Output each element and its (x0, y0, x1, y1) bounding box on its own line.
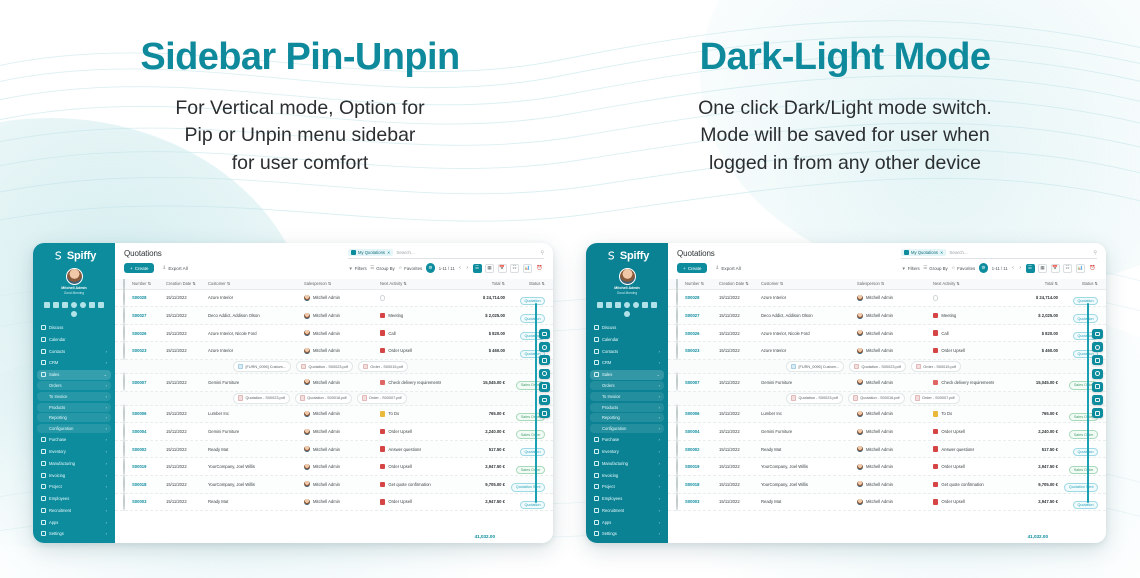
purchase-icon (41, 437, 46, 442)
chevron-right-icon[interactable]: › (106, 449, 107, 454)
attachment-chip[interactable]: Quotation - S00016.pdf (295, 393, 352, 404)
attachment-chip[interactable]: Quotation - S00016.pdf (848, 393, 905, 404)
theme-toggle-icon[interactable] (624, 311, 630, 317)
column-header-salesperson[interactable]: Salesperson ⇅ (857, 281, 933, 286)
promo-banner: Sidebar Pin-Unpin For Vertical mode, Opt… (0, 0, 1140, 578)
column-header-status[interactable]: Status ⇅ (505, 281, 545, 286)
group-icon: ☰ (370, 265, 374, 271)
chevron-right-icon[interactable]: › (659, 394, 660, 399)
chevron-right-icon[interactable]: › (659, 360, 660, 365)
search-icon[interactable]: ⚲ (540, 250, 544, 256)
sidebar-item-calendar[interactable]: Calendar (37, 334, 111, 344)
cell-customer: Azure Interior (761, 348, 857, 353)
pager-prev-button[interactable]: ‹ (458, 265, 462, 271)
chevron-right-icon[interactable]: › (659, 496, 660, 501)
home-icon[interactable] (606, 302, 612, 308)
table-row[interactable]: S0001815/11/2022YourCompany, Joel Willis… (115, 476, 553, 494)
table-row[interactable]: S0000615/11/2022Lumber IncMitchell Admin… (668, 406, 1106, 424)
action-toolbar: + Create ⇩ Export All ▼ Filters ☰ Group … (115, 262, 553, 279)
lock-icon[interactable] (98, 302, 104, 308)
attachment-chip[interactable]: Quotation - S00023.pdf (296, 361, 353, 372)
table-row[interactable]: S0002815/11/2022Azure InteriorMitchell A… (115, 290, 553, 308)
export-all-button[interactable]: ⇩ Export All (158, 263, 191, 274)
table-row[interactable]: S0000715/11/2022Gemini FurnitureMitchell… (115, 374, 553, 392)
row-checkbox[interactable] (123, 475, 132, 493)
grid-rail-icon[interactable] (1092, 355, 1103, 365)
pager-next-button[interactable]: › (1018, 265, 1022, 271)
sidebar-item-apps[interactable]: Apps› (37, 517, 111, 527)
filters-button[interactable]: ▼ Filters (901, 266, 919, 271)
sidebar-item-discuss[interactable]: Discuss (590, 323, 664, 333)
cell-number[interactable]: S00027 (132, 313, 166, 318)
kanban-view-icon[interactable]: ▦ (1038, 264, 1047, 273)
cell-next-activity: Order Upsell (933, 499, 1008, 504)
chevron-right-icon[interactable]: › (106, 484, 107, 489)
table-row[interactable]: S0000215/11/2022Ready MatMitchell AdminA… (668, 441, 1106, 459)
sidebar-item-settings[interactable]: Settings› (590, 529, 664, 539)
attachment-chips: [FURN_0096] Custom...Quotation - S00023.… (123, 361, 408, 372)
create-button[interactable]: + Create (677, 263, 707, 273)
table-row[interactable]: S0000315/11/2022Ready MatMitchell AdminO… (115, 494, 553, 512)
floating-action-rail (539, 329, 550, 418)
attachment-chip[interactable]: Order - S00015.pdf (358, 361, 408, 372)
cell-salesperson: Mitchell Admin (857, 295, 933, 301)
sidebar-item-products[interactable]: Products› (37, 403, 111, 412)
cell-number[interactable]: S00002 (685, 447, 719, 452)
chevron-right-icon[interactable]: › (106, 383, 107, 388)
column-header-number[interactable]: Number ⇅ (132, 281, 166, 286)
column-header-creation-date[interactable]: Creation Date ⇅ (719, 281, 761, 286)
table-row[interactable]: S0002315/11/2022Azure InteriorMitchell A… (668, 342, 1106, 360)
avatar (857, 499, 863, 505)
settings-rail-icon[interactable] (1092, 329, 1103, 339)
cell-number[interactable]: S00018 (132, 482, 166, 487)
sidebar-item-invoicing[interactable]: Invoicing› (37, 470, 111, 480)
cell-number[interactable]: S00028 (685, 295, 719, 300)
filters-label: Filters (908, 266, 920, 271)
cell-creation-date: 15/11/2022 (166, 348, 208, 353)
clock-rail-icon[interactable] (1092, 342, 1103, 352)
graph-view-icon[interactable]: 📊 (523, 264, 532, 273)
tag-icon[interactable] (642, 302, 648, 308)
cell-customer: Ready Mat (208, 447, 304, 452)
column-header-total[interactable]: Total ⇅ (1008, 281, 1058, 286)
pivot-view-icon[interactable]: ☷ (510, 264, 519, 273)
chevron-right-icon[interactable]: › (659, 461, 660, 466)
cell-number[interactable]: S00028 (132, 295, 166, 300)
settings-circle-button[interactable]: ⚙ (979, 263, 989, 273)
status-badge: Quotation (520, 448, 545, 456)
close-icon[interactable]: ✕ (940, 250, 943, 255)
chevron-right-icon[interactable]: › (659, 484, 660, 489)
chevron-right-icon[interactable]: › (106, 360, 107, 365)
column-header-customer[interactable]: Customer ⇅ (208, 281, 304, 286)
avatar (857, 481, 863, 487)
search-facet[interactable]: My Quotations ✕ (901, 249, 946, 256)
row-checkbox[interactable] (123, 307, 132, 325)
mail-rail-icon[interactable] (1092, 395, 1103, 405)
link2-icon[interactable] (633, 302, 639, 308)
attachment-chip[interactable]: Order - S00015.pdf (911, 361, 961, 372)
lock-icon[interactable] (651, 302, 657, 308)
cell-number[interactable]: S00018 (685, 482, 719, 487)
chevron-right-icon[interactable]: › (106, 415, 107, 420)
favorites-button[interactable]: ☆ Favorites (951, 265, 975, 271)
user-profile[interactable]: Mitchell Admin Good Morning (37, 268, 111, 295)
cell-customer: Deco Addict, Addison Olson (208, 313, 304, 318)
cell-number[interactable]: S00023 (132, 348, 166, 353)
table-row[interactable]: S0002715/11/2022Deco Addict, Addison Ols… (668, 307, 1106, 325)
column-header-status[interactable]: Status ⇅ (1058, 281, 1098, 286)
row-checkbox[interactable] (676, 373, 685, 391)
calendar-icon[interactable] (62, 302, 68, 308)
file-icon (791, 395, 796, 401)
graph-view-icon[interactable]: 📊 (1076, 264, 1085, 273)
attachment-chip[interactable]: Order - S00007.pdf (910, 393, 960, 404)
sidebar-item-products[interactable]: Products› (590, 403, 664, 412)
chevron-right-icon[interactable]: › (659, 426, 660, 431)
table-footer: 41,032.00 (115, 531, 553, 543)
list-view-icon[interactable]: ☰ (1026, 264, 1035, 273)
chevron-right-icon[interactable]: › (659, 531, 660, 536)
sidebar-item-invoicing[interactable]: Invoicing› (590, 470, 664, 480)
column-header-creation-date[interactable]: Creation Date ⇅ (166, 281, 208, 286)
chevron-right-icon[interactable]: › (106, 496, 107, 501)
column-header-customer[interactable]: Customer ⇅ (761, 281, 857, 286)
facet-label: My Quotations (358, 250, 385, 255)
chevron-right-icon[interactable]: › (106, 349, 107, 354)
file-icon (238, 395, 243, 401)
table-row[interactable]: S0002315/11/2022Azure InteriorMitchell A… (115, 342, 553, 360)
cell-number[interactable]: S00006 (132, 411, 166, 416)
sidebar-item-recruitment[interactable]: Recruitment› (590, 505, 664, 515)
row-checkbox[interactable] (123, 324, 132, 342)
chevron-right-icon[interactable]: › (659, 349, 660, 354)
cell-salesperson: Mitchell Admin (304, 481, 380, 487)
sidebar-item-sales[interactable]: Sales⌄ (37, 370, 111, 380)
sidebar-item-reporting[interactable]: Reporting› (590, 413, 664, 422)
cell-salesperson: Mitchell Admin (304, 379, 380, 385)
row-checkbox[interactable] (676, 440, 685, 458)
cell-number[interactable]: S00026 (132, 331, 166, 336)
sidebar-item-configuration[interactable]: Configuration› (37, 424, 111, 433)
cell-number[interactable]: S00019 (685, 464, 719, 469)
sidebar-item-manufacturing[interactable]: Manufacturing› (590, 458, 664, 468)
brand-name: Spiffy (620, 250, 649, 262)
row-checkbox[interactable] (123, 289, 132, 307)
phone-icon[interactable] (44, 302, 50, 308)
calendar-view-icon[interactable]: 📅 (498, 264, 507, 273)
attachment-chip[interactable]: Quotation - S00023.pdf (233, 393, 290, 404)
group-by-button[interactable]: ☰ Group By (923, 265, 947, 271)
favorites-button[interactable]: ☆ Favorites (398, 265, 422, 271)
table-row[interactable]: S0000315/11/2022Ready MatMitchell AdminO… (668, 494, 1106, 512)
vertical-scrollbar[interactable] (535, 303, 537, 503)
group-by-button[interactable]: ☰ Group By (370, 265, 394, 271)
activity-view-icon[interactable]: ⏰ (535, 264, 544, 273)
sidebar-item-employees[interactable]: Employees› (590, 494, 664, 504)
sidebar-item-discuss[interactable]: Discuss (37, 323, 111, 333)
table-row[interactable]: S0001815/11/2022YourCompany, Joel Willis… (668, 476, 1106, 494)
cell-creation-date: 15/11/2022 (719, 464, 761, 469)
table-row[interactable]: S0000215/11/2022Ready MatMitchell AdminA… (115, 441, 553, 459)
cell-salesperson: Mitchell Admin (304, 446, 380, 452)
cell-creation-date: 15/11/2022 (719, 313, 761, 318)
link-icon[interactable] (71, 302, 77, 308)
app-screenshot-light: Spiffy Mitchell Admin Good Morning Discu… (33, 243, 553, 543)
avatar (857, 330, 863, 336)
column-header-salesperson[interactable]: Salesperson ⇅ (304, 281, 380, 286)
cell-number[interactable]: S00003 (132, 499, 166, 504)
sidebar-item-configuration[interactable]: Configuration› (590, 424, 664, 433)
cell-number[interactable]: S00003 (685, 499, 719, 504)
cell-number[interactable]: S00007 (685, 380, 719, 385)
sidebar-item-label: Purchase (49, 437, 103, 442)
row-checkbox[interactable] (676, 342, 685, 360)
sidebar-item-contacts[interactable]: Contacts› (37, 346, 111, 356)
cell-number[interactable]: S00026 (685, 331, 719, 336)
column-header-next-activity[interactable]: Next Activity ⇅ (933, 281, 1008, 286)
sidebar-item-orders[interactable]: Orders› (37, 381, 111, 390)
cell-total: $ 820.00 (455, 331, 505, 336)
top-control-bar: Quotations My Quotations ✕ Search... ⚲ (115, 243, 553, 262)
row-checkbox[interactable] (676, 475, 685, 493)
attachment-label: Quotation - S00016.pdf (860, 396, 899, 400)
search-input[interactable]: Search... (396, 250, 414, 255)
mail-rail-icon[interactable] (539, 395, 550, 405)
action-toolbar: + Create ⇩ Export All ▼ Filters ☰ Group … (668, 262, 1106, 279)
calendar-icon[interactable] (615, 302, 621, 308)
pager-next-button[interactable]: › (465, 265, 469, 271)
table-row[interactable]: S0000715/11/2022Gemini FurnitureMitchell… (668, 374, 1106, 392)
sidebar-item-orders[interactable]: Orders› (590, 381, 664, 390)
cell-creation-date: 15/11/2022 (166, 429, 208, 434)
sidebar-item-label: Project (602, 484, 656, 489)
brand-logo[interactable]: Spiffy (37, 250, 111, 262)
table-row[interactable]: S0000615/11/2022Lumber IncMitchell Admin… (115, 406, 553, 424)
chevron-down-icon[interactable]: ⌄ (657, 372, 660, 377)
home-icon[interactable] (53, 302, 59, 308)
attachment-chip[interactable]: [FURN_0096] Custom... (786, 361, 844, 372)
sidebar-item-sales[interactable]: Sales⌄ (590, 370, 664, 380)
brand-logo[interactable]: Spiffy (590, 250, 664, 262)
sidebar-item-calendar[interactable]: Calendar (590, 334, 664, 344)
chevron-right-icon[interactable]: › (106, 473, 107, 478)
file-icon (791, 364, 796, 370)
calendar-view-icon[interactable]: 📅 (1051, 264, 1060, 273)
chevron-right-icon[interactable]: › (106, 508, 107, 513)
row-checkbox[interactable] (676, 405, 685, 423)
table-row[interactable]: S0000415/11/2022Gemini FurnitureMitchell… (668, 423, 1106, 441)
search-facet[interactable]: My Quotations ✕ (348, 249, 393, 256)
export-all-button[interactable]: ⇩ Export All (711, 263, 744, 274)
kanban-view-icon[interactable]: ▦ (485, 264, 494, 273)
attachment-chip[interactable]: Order - S00007.pdf (357, 393, 407, 404)
create-button[interactable]: + Create (124, 263, 154, 273)
table-row[interactable]: S0002615/11/2022Azure Interior, Nicole F… (668, 325, 1106, 343)
file-icon (853, 395, 858, 401)
chevron-right-icon[interactable]: › (106, 426, 107, 431)
sidebar-item-project[interactable]: Project› (590, 482, 664, 492)
user-profile[interactable]: Mitchell Admin Good Morning (590, 268, 664, 295)
chevron-right-icon[interactable]: › (659, 415, 660, 420)
cell-number[interactable]: S00006 (685, 411, 719, 416)
search-bar[interactable]: My Quotations ✕ Search... ⚲ (901, 249, 1097, 259)
pin-icon[interactable] (71, 311, 77, 317)
sidebar-item-recruitment[interactable]: Recruitment› (37, 505, 111, 515)
card-rail-icon[interactable] (539, 408, 550, 418)
sidebar-item-label: Apps (49, 520, 103, 525)
phone-icon[interactable] (597, 302, 603, 308)
clock-rail-icon[interactable] (539, 342, 550, 352)
avatar (304, 295, 310, 301)
sidebar-menu: DiscussCalendarContacts›CRM›Sales⌄Orders… (37, 322, 111, 540)
cell-salesperson: Mitchell Admin (857, 330, 933, 336)
vertical-scrollbar[interactable] (1087, 303, 1089, 503)
chevron-right-icon[interactable]: › (659, 383, 660, 388)
sidebar-item-inventory[interactable]: Inventory› (590, 447, 664, 457)
sidebar-item-crm[interactable]: CRM› (37, 358, 111, 368)
row-checkbox[interactable] (123, 373, 132, 391)
link2-icon[interactable] (80, 302, 86, 308)
sidebar-item-project[interactable]: Project› (37, 482, 111, 492)
sidebar-item-purchase[interactable]: Purchase› (590, 435, 664, 445)
cell-number[interactable]: S00023 (685, 348, 719, 353)
row-checkbox[interactable] (676, 493, 685, 511)
card-rail-icon[interactable] (1092, 408, 1103, 418)
column-header-next-activity[interactable]: Next Activity ⇅ (380, 281, 455, 286)
cell-number[interactable]: S00004 (132, 429, 166, 434)
pager-prev-button[interactable]: ‹ (1011, 265, 1015, 271)
chevron-right-icon[interactable]: › (659, 405, 660, 410)
row-checkbox[interactable] (676, 307, 685, 325)
sidebar-item-to-invoice[interactable]: To Invoice› (37, 392, 111, 401)
list-view-icon[interactable]: ☰ (473, 264, 482, 273)
chevron-right-icon[interactable]: › (106, 461, 107, 466)
sidebar-item-reporting[interactable]: Reporting› (37, 413, 111, 422)
row-checkbox[interactable] (123, 405, 132, 423)
cell-number[interactable]: S00004 (685, 429, 719, 434)
row-checkbox[interactable] (676, 324, 685, 342)
column-header-total[interactable]: Total ⇅ (455, 281, 505, 286)
attachment-label: [FURN_0096] Custom... (799, 365, 840, 369)
table-footer: 41,032.00 (668, 531, 1106, 543)
chevron-down-icon[interactable]: ⌄ (104, 372, 107, 377)
chevron-right-icon[interactable]: › (659, 473, 660, 478)
sidebar-item-contacts[interactable]: Contacts› (590, 346, 664, 356)
row-checkbox[interactable] (123, 342, 132, 360)
pivot-view-icon[interactable]: ☷ (1063, 264, 1072, 273)
print-rail-icon[interactable] (539, 369, 550, 379)
row-checkbox[interactable] (676, 458, 685, 476)
cell-next-activity: Answer questions (933, 446, 1008, 451)
sidebar-item-label: Purchase (602, 437, 656, 442)
search-bar[interactable]: My Quotations ✕ Search... ⚲ (348, 249, 544, 259)
sidebar-item-to-invoice[interactable]: To Invoice› (590, 392, 664, 401)
sidebar-item-purchase[interactable]: Purchase› (37, 435, 111, 445)
table-row[interactable]: S0002715/11/2022Deco Addict, Addison Ols… (115, 307, 553, 325)
row-checkbox[interactable] (676, 423, 685, 441)
search-input[interactable]: Search... (949, 250, 967, 255)
cell-total: 2,947.50 € (1008, 464, 1058, 469)
row-checkbox[interactable] (123, 423, 132, 441)
cell-salesperson: Mitchell Admin (857, 379, 933, 385)
row-checkbox[interactable] (123, 493, 132, 511)
chart-rail-icon[interactable] (539, 382, 550, 392)
chevron-right-icon[interactable]: › (106, 520, 107, 525)
table-row[interactable]: S0002615/11/2022Azure Interior, Nicole F… (115, 325, 553, 343)
sidebar-item-inventory[interactable]: Inventory› (37, 447, 111, 457)
chevron-right-icon[interactable]: › (106, 405, 107, 410)
attachment-label: Order - S00007.pdf (369, 396, 402, 400)
sidebar-item-apps[interactable]: Apps› (590, 517, 664, 527)
print-rail-icon[interactable] (1092, 369, 1103, 379)
breadcrumb[interactable]: Quotations (677, 249, 715, 258)
breadcrumb[interactable]: Quotations (124, 249, 162, 258)
chevron-right-icon[interactable]: › (659, 449, 660, 454)
link-icon[interactable] (624, 302, 630, 308)
cell-number[interactable]: S00027 (685, 313, 719, 318)
attachment-chip[interactable]: Quotation - S00023.pdf (849, 361, 906, 372)
settings-circle-button[interactable]: ⚙ (426, 263, 436, 273)
cell-number[interactable]: S00002 (132, 447, 166, 452)
sidebar-item-label: CRM (602, 360, 656, 365)
chevron-right-icon[interactable]: › (106, 437, 107, 442)
inventory-icon (594, 449, 599, 454)
search-icon[interactable]: ⚲ (1093, 250, 1097, 256)
activity-view-icon[interactable]: ⏰ (1088, 264, 1097, 273)
cell-salesperson: Mitchell Admin (304, 429, 380, 435)
upsell-icon (933, 464, 938, 469)
attachment-chip[interactable]: Quotation - S00023.pdf (786, 393, 843, 404)
chevron-right-icon[interactable]: › (659, 437, 660, 442)
chevron-right-icon[interactable]: › (106, 531, 107, 536)
close-icon[interactable]: ✕ (387, 250, 390, 255)
cell-creation-date: 15/11/2022 (719, 331, 761, 336)
row-checkbox[interactable] (676, 289, 685, 307)
attachment-label: Order - S00007.pdf (922, 396, 955, 400)
table-row[interactable]: S0001915/11/2022YourCompany, Joel Willis… (668, 458, 1106, 476)
sidebar-item-manufacturing[interactable]: Manufacturing› (37, 458, 111, 468)
sidebar-item-crm[interactable]: CRM› (590, 358, 664, 368)
settings-rail-icon[interactable] (539, 329, 550, 339)
sidebar-item-employees[interactable]: Employees› (37, 494, 111, 504)
app-screenshot-dark-toggle: Spiffy Mitchell Admin Good Morning Discu… (586, 243, 1106, 543)
chevron-right-icon[interactable]: › (659, 508, 660, 513)
chart-rail-icon[interactable] (1092, 382, 1103, 392)
quick-icons[interactable] (590, 299, 664, 322)
tag-icon[interactable] (89, 302, 95, 308)
row-checkbox[interactable] (123, 458, 132, 476)
row-checkbox[interactable] (123, 440, 132, 458)
cell-number[interactable]: S00019 (132, 464, 166, 469)
table-row[interactable]: S0002815/11/2022Azure InteriorMitchell A… (668, 290, 1106, 308)
column-header-number[interactable]: Number ⇅ (685, 281, 719, 286)
table-row[interactable]: S0001915/11/2022YourCompany, Joel Willis… (115, 458, 553, 476)
filters-button[interactable]: ▼ Filters (348, 266, 366, 271)
cell-number[interactable]: S00007 (132, 380, 166, 385)
sidebar-item-label: Products (49, 405, 103, 410)
pager-label: 1-11 / 11 (992, 266, 1008, 271)
avatar (304, 330, 310, 336)
chevron-right-icon[interactable]: › (659, 520, 660, 525)
grid-rail-icon[interactable] (539, 355, 550, 365)
quick-icons[interactable] (37, 299, 111, 322)
sidebar-item-settings[interactable]: Settings› (37, 529, 111, 539)
chevron-right-icon[interactable]: › (106, 394, 107, 399)
table-row[interactable]: S0000415/11/2022Gemini FurnitureMitchell… (115, 423, 553, 441)
attachment-chip[interactable]: [FURN_0096] Custom... (233, 361, 291, 372)
